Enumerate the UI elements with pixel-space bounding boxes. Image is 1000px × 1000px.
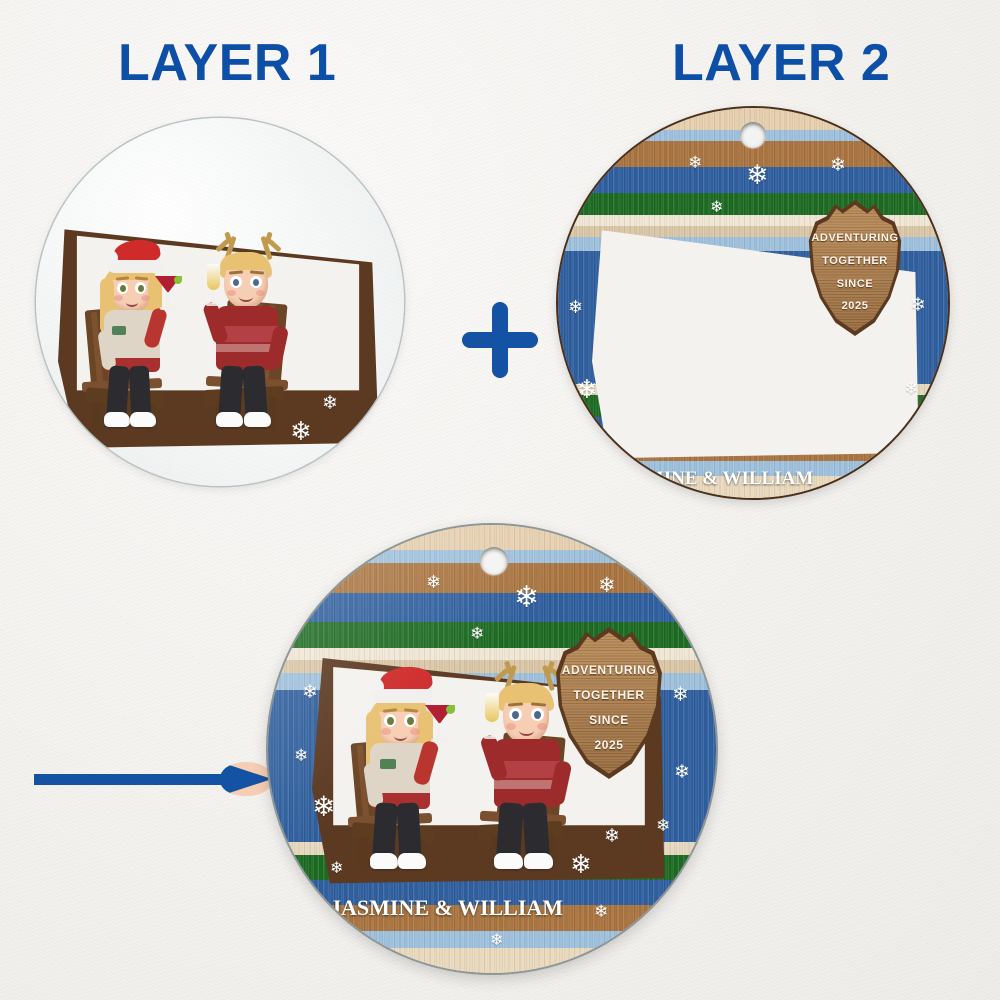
snowflake-icon: ❄ — [490, 933, 503, 949]
badge-line-2: TOGETHER — [800, 255, 910, 267]
hanging-hole — [740, 122, 766, 148]
names-banner: JASMINE & WILLIAM — [268, 895, 716, 921]
wood-stripe — [268, 593, 716, 623]
santa-hat-icon — [102, 240, 166, 274]
wood-grain — [268, 948, 716, 973]
snowflake-icon: ❄ — [584, 446, 597, 461]
badge-line-4: 2025 — [800, 300, 910, 312]
plus-icon — [460, 300, 540, 380]
santa-hat-icon — [366, 667, 438, 705]
snowflake-icon: ❄ — [858, 484, 871, 498]
badge-line-4: 2025 — [546, 738, 672, 752]
wood-grain — [268, 593, 716, 623]
shoe — [398, 853, 426, 869]
snowflake-icon: ❄ — [910, 296, 926, 315]
snowflake-icon: ❄ — [904, 380, 918, 397]
snowflake-icon: ❄ — [330, 861, 343, 877]
cocktail-glass — [154, 276, 182, 316]
layer1-ornament: ❄ ❄ — [36, 118, 404, 486]
snowflake-icon: ❄ — [302, 683, 318, 702]
snowflake-icon: ❄ — [568, 298, 583, 316]
snowflake-icon: ❄ — [688, 154, 702, 171]
snowflake-icon: ❄ — [746, 162, 769, 189]
snowflake-icon: ❄ — [830, 156, 846, 175]
layer1-couple-scene — [58, 204, 382, 458]
badge-line-2: TOGETHER — [546, 688, 672, 702]
layer1-heading: LAYER 1 — [118, 33, 336, 93]
person-woman — [354, 667, 472, 879]
arrow-shaft — [34, 774, 224, 785]
snowflake-icon: ❄ — [312, 793, 335, 821]
badge-line-1: ADVENTURING — [800, 232, 910, 244]
layer2-ornament: ADVENTURING TOGETHER SINCE 2025 JASMINE … — [558, 108, 948, 498]
badge-line-3: SINCE — [800, 278, 910, 290]
hanging-hole — [480, 547, 508, 575]
shoe — [216, 412, 243, 427]
shoe — [370, 853, 398, 869]
snowflake-icon: ❄ — [470, 625, 484, 642]
person-man — [200, 230, 312, 438]
snowflake-icon: ❄ — [710, 200, 723, 216]
snowflake-icon: ❄ — [674, 763, 690, 782]
shoe — [104, 412, 130, 427]
snowflake-icon: ❄ — [294, 747, 308, 764]
plus-icon-horizontal-bar — [462, 332, 538, 348]
layer2-heading: LAYER 2 — [672, 33, 890, 93]
shoe — [244, 412, 271, 427]
adventuring-badge: ADVENTURING TOGETHER SINCE 2025 — [546, 627, 672, 779]
badge-line-3: SINCE — [546, 713, 672, 727]
shoe — [130, 412, 156, 427]
champagne-flute — [480, 693, 504, 743]
arrow-right-icon — [34, 762, 274, 796]
shoe — [524, 853, 553, 869]
snowflake-icon: ❄ — [672, 685, 689, 705]
snowflake-icon: ❄ — [426, 573, 441, 591]
champagne-flute — [202, 264, 224, 310]
names-banner: JASMINE & WILLIAM — [558, 468, 948, 490]
cocktail-glass — [424, 705, 456, 749]
shoe — [494, 853, 523, 869]
person-woman — [88, 238, 198, 438]
badge-line-1: ADVENTURING — [546, 663, 672, 677]
adventuring-badge: ADVENTURING TOGETHER SINCE 2025 — [800, 200, 910, 336]
snowflake-icon: ❄ — [598, 575, 616, 596]
finished-product-ornament: ❄ ❄ — [268, 525, 716, 973]
snowflake-icon: ❄ — [594, 903, 608, 920]
snowflake-icon: ❄ — [656, 817, 670, 834]
arrow-head — [220, 762, 272, 796]
snowflake-icon: ❄ — [514, 583, 539, 613]
wood-stripe — [268, 948, 716, 973]
snowflake-icon: ❄ — [576, 376, 598, 402]
